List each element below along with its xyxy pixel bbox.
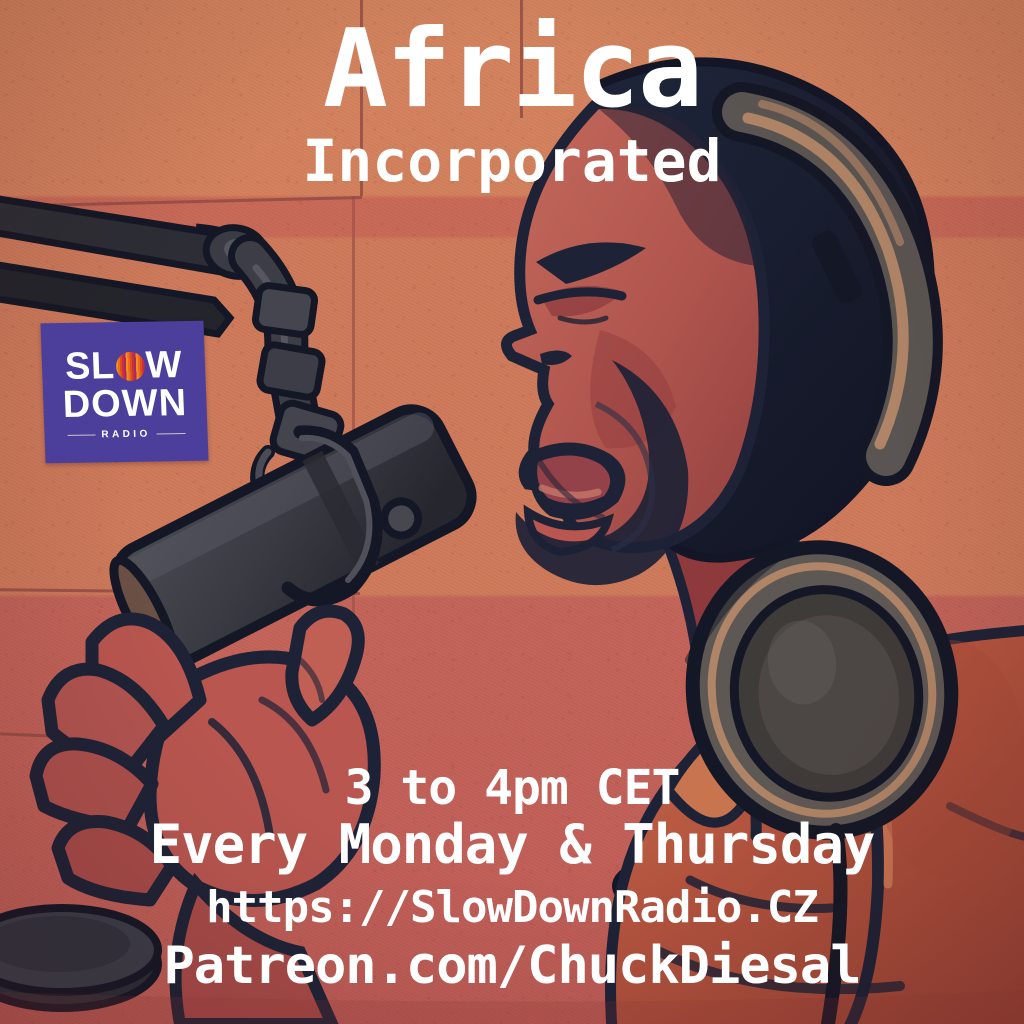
schedule-days: Every Monday & Thursday <box>150 818 875 872</box>
patreon-url[interactable]: Patreon.com/ChuckDiesal <box>163 940 860 992</box>
podcast-promo-poster: SL W DOWN RADIO Africa Incorporated 3 to… <box>0 0 1024 1024</box>
striped-circle-icon <box>115 352 145 381</box>
logo-rule-left <box>67 434 95 436</box>
logo-tagline: RADIO <box>101 429 151 441</box>
patreon-url-line[interactable]: Patreon.com/ChuckDiesal <box>0 940 1024 992</box>
logo-tagline-row: RADIO <box>67 428 185 441</box>
schedule-time: 3 to 4pm CET <box>345 764 680 812</box>
schedule-time-line: 3 to 4pm CET <box>0 764 1024 812</box>
logo-slow-suffix: W <box>145 347 183 384</box>
website-url-line[interactable]: https://SlowDownRadio.CZ <box>0 886 1024 930</box>
logo-rule-right <box>157 433 185 435</box>
show-title-line-1: Africa <box>0 16 1024 124</box>
show-title-africa: Africa <box>323 16 701 124</box>
logo-word-slow: SL W <box>64 347 182 385</box>
logo-slow-prefix: SL <box>64 348 115 385</box>
logo-word-down: DOWN <box>62 385 188 423</box>
show-title-incorporated: Incorporated <box>302 132 721 190</box>
slow-down-radio-logo[interactable]: SL W DOWN RADIO <box>40 321 208 463</box>
schedule-days-line: Every Monday & Thursday <box>0 818 1024 872</box>
show-title-line-2: Incorporated <box>0 132 1024 190</box>
website-url[interactable]: https://SlowDownRadio.CZ <box>206 886 818 930</box>
